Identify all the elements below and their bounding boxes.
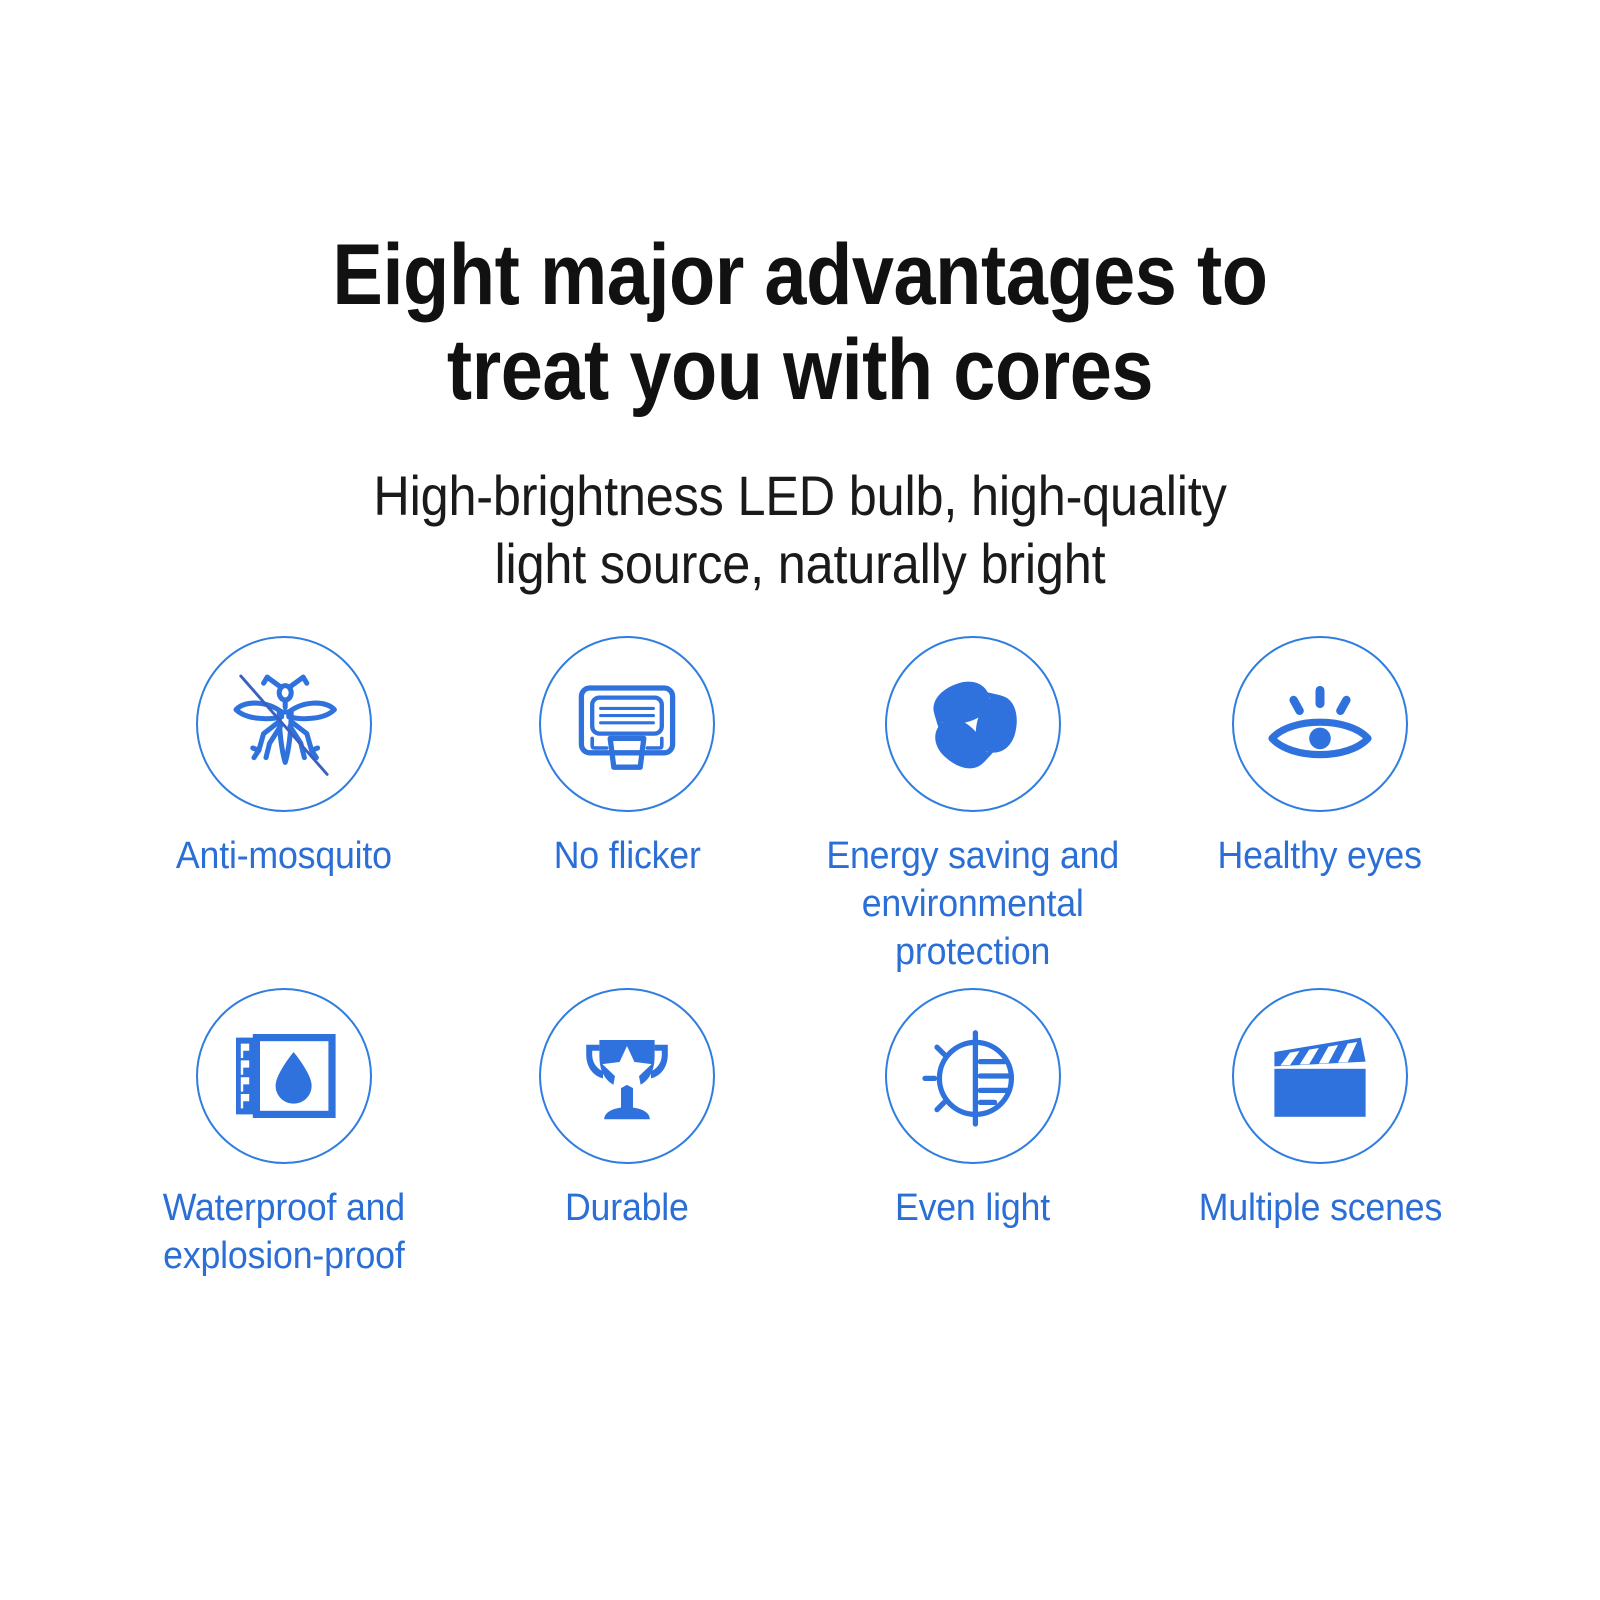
feature-item-energy-saving[interactable]: Energy saving and environmental protecti… [813,636,1133,976]
feature-label: Durable [565,1184,689,1232]
icon-circle [196,988,372,1164]
icon-circle [885,988,1061,1164]
feature-label: Healthy eyes [1218,832,1422,880]
feature-item-waterproof[interactable]: Waterproof and explosion-proof [124,988,444,1280]
feature-label: Even light [895,1184,1050,1232]
clapperboard-icon [1260,1016,1380,1136]
features-row-1: Anti-mosquito [120,636,1480,976]
features-row-2: Waterproof and explosion-proof [120,988,1480,1280]
feature-item-durable[interactable]: Durable [467,988,787,1232]
brightness-contrast-icon [913,1016,1033,1136]
icon-circle [1232,988,1408,1164]
feature-item-anti-mosquito[interactable]: Anti-mosquito [124,636,444,880]
icon-circle [539,636,715,812]
feature-label: Waterproof and explosion-proof [163,1184,405,1280]
header-block: Eight major advantages to treat you with… [0,228,1600,598]
no-mosquito-icon [224,664,344,784]
page-title: Eight major advantages to treat you with… [96,228,1504,418]
icon-circle [196,636,372,812]
no-flicker-panel-icon [567,664,687,784]
icon-circle [1232,636,1408,812]
feature-item-no-flicker[interactable]: No flicker [467,636,787,880]
waterproof-droplet-icon [224,1016,344,1136]
feature-item-healthy-eyes[interactable]: Healthy eyes [1160,636,1480,880]
feature-label: Energy saving and environmental protecti… [826,832,1119,976]
eye-icon [1260,664,1380,784]
trophy-icon [567,1016,687,1136]
advantages-infographic: Eight major advantages to treat you with… [0,0,1600,1600]
features-grid: Anti-mosquito [120,636,1480,1280]
feature-item-even-light[interactable]: Even light [813,988,1133,1232]
page-subtitle: High-brightness LED bulb, high-quality l… [80,418,1520,598]
recycling-leaves-icon [913,664,1033,784]
feature-label: Anti-mosquito [176,832,392,880]
feature-label: Multiple scenes [1198,1184,1441,1232]
icon-circle [885,636,1061,812]
icon-circle [539,988,715,1164]
feature-item-multiple-scenes[interactable]: Multiple scenes [1160,988,1480,1232]
feature-label: No flicker [554,832,701,880]
